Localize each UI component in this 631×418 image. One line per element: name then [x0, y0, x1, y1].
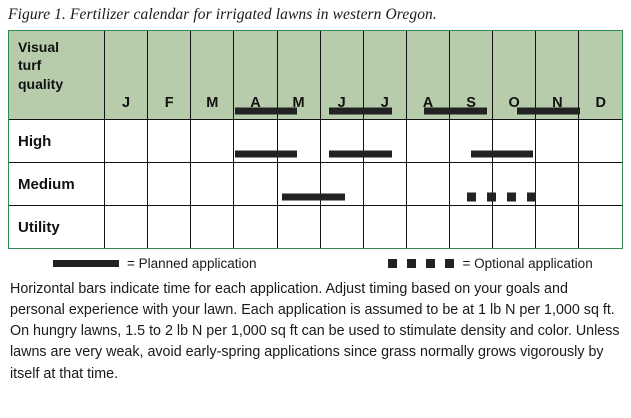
cell-high-jan: [105, 120, 148, 163]
optional-bar-icon: [388, 259, 454, 268]
calendar-header: Visual turf quality J F M A M J J A S O …: [9, 31, 622, 120]
month-header-jan: J: [105, 31, 148, 120]
cell-medium-feb: [148, 163, 191, 206]
row-label-utility: Utility: [9, 206, 105, 249]
cell-high-may: [277, 120, 320, 163]
legend-item-optional: = Optional application: [388, 256, 592, 271]
cell-high-oct: [493, 120, 536, 163]
cell-utility-dec: [579, 206, 622, 249]
cell-utility-jul: [363, 206, 406, 249]
cell-medium-nov: [536, 163, 579, 206]
cell-utility-may: [277, 206, 320, 249]
cell-high-sep: [450, 120, 493, 163]
cell-medium-oct: [493, 163, 536, 206]
cell-high-dec: [579, 120, 622, 163]
planned-bar-icon: [53, 260, 119, 267]
cell-utility-jan: [105, 206, 148, 249]
month-header-dec: D: [579, 31, 622, 120]
month-header-mar: M: [191, 31, 234, 120]
cell-medium-jan: [105, 163, 148, 206]
calendar-body: High Medium: [9, 120, 622, 249]
optional-dash: [407, 259, 416, 268]
cell-utility-jun: [320, 206, 363, 249]
cell-high-jun: [320, 120, 363, 163]
month-header-aug: A: [406, 31, 449, 120]
row-label-high: High: [9, 120, 105, 163]
cell-utility-aug: [406, 206, 449, 249]
figure-caption: Figure 1. Fertilizer calendar for irriga…: [0, 0, 631, 30]
header-row: Visual turf quality J F M A M J J A S O …: [9, 31, 622, 120]
optional-dash: [426, 259, 435, 268]
cell-medium-jun: [320, 163, 363, 206]
month-header-jun: J: [320, 31, 363, 120]
figure-notes-paragraph: Horizontal bars indicate time for each a…: [10, 279, 621, 385]
table-row-medium: Medium: [9, 163, 622, 206]
cell-medium-apr: [234, 163, 277, 206]
month-header-oct: O: [493, 31, 536, 120]
legend-label-planned: = Planned application: [127, 256, 256, 271]
legend: = Planned application = Optional applica…: [8, 256, 623, 271]
cell-medium-aug: [406, 163, 449, 206]
cell-high-nov: [536, 120, 579, 163]
corner-header-line-3: quality: [18, 75, 104, 93]
cell-medium-may: [277, 163, 320, 206]
legend-item-planned: = Planned application: [53, 256, 256, 271]
corner-header-visual-turf-quality: Visual turf quality: [9, 31, 105, 120]
cell-utility-oct: [493, 206, 536, 249]
cell-utility-mar: [191, 206, 234, 249]
cell-high-feb: [148, 120, 191, 163]
cell-high-mar: [191, 120, 234, 163]
cell-medium-sep: [450, 163, 493, 206]
cell-high-aug: [406, 120, 449, 163]
cell-utility-apr: [234, 206, 277, 249]
cell-utility-nov: [536, 206, 579, 249]
cell-medium-dec: [579, 163, 622, 206]
month-header-feb: F: [148, 31, 191, 120]
table-row-utility: Utility: [9, 206, 622, 249]
calendar-grid: Visual turf quality J F M A M J J A S O …: [9, 31, 622, 248]
cell-medium-jul: [363, 163, 406, 206]
month-header-sep: S: [450, 31, 493, 120]
cell-utility-sep: [450, 206, 493, 249]
table-row-high: High: [9, 120, 622, 163]
legend-label-optional: = Optional application: [462, 256, 592, 271]
row-label-medium: Medium: [9, 163, 105, 206]
month-header-apr: A: [234, 31, 277, 120]
corner-header-line-2: turf: [18, 56, 104, 74]
optional-dash: [388, 259, 397, 268]
fertilizer-calendar-table: Visual turf quality J F M A M J J A S O …: [8, 30, 623, 249]
cell-high-apr: [234, 120, 277, 163]
cell-utility-feb: [148, 206, 191, 249]
month-header-may: M: [277, 31, 320, 120]
month-header-nov: N: [536, 31, 579, 120]
cell-high-jul: [363, 120, 406, 163]
month-header-jul: J: [363, 31, 406, 120]
cell-medium-mar: [191, 163, 234, 206]
corner-header-line-1: Visual: [18, 38, 104, 56]
optional-dash: [445, 259, 454, 268]
